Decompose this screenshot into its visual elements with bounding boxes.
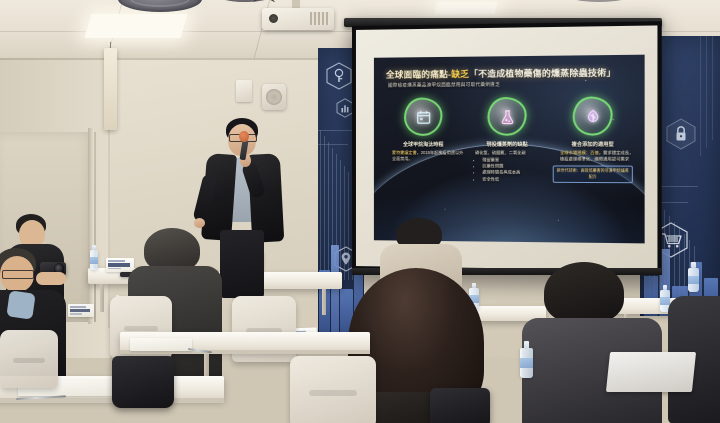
audience-collar [6,290,35,319]
slide-title-key: 缺乏 [451,69,469,79]
slide-bullet: 安全性低 [482,176,549,183]
leaf-icon [573,96,613,135]
bag [430,388,490,423]
alcove-edge [88,128,94,324]
wall-control-box[interactable] [236,80,252,102]
presentation-room-photo: 全球面臨的痛點-缺乏「不造成植物藥傷的燻蒸除蟲技術」 國際檢疫燻蒸藥品溴甲烷面臨… [0,0,720,423]
audience-glasses [2,270,34,279]
name-card [68,304,94,317]
slide-column: 現役燻蒸劑的缺點 磷化氫、硫醯氟、二氧化碳 殘留藥害 抗藥性問題 處理時間長與成… [465,97,550,183]
slide-title-lead: 全球面臨的痛點- [386,69,451,80]
water-bottle [688,268,699,292]
wall-speaker [262,84,286,110]
slide-column-highlight: 蒙特婁議定書 [392,150,417,155]
key-hexagon-icon [326,62,352,90]
laptop[interactable] [606,352,696,392]
slide-column-heading: 全球甲烷淘汰時程 [403,141,443,148]
slide-column: 複合添加的適用型 全球市場規模：百億，需求穩定成長，檢疫處理標準化、國際通用認可… [550,96,637,183]
table-leg [100,284,104,312]
presenter-hand-left [194,218,205,228]
slide-title-rest: 「不造成植物藥傷的燻蒸除蟲技術」 [469,67,616,79]
slide-column-body: 蒙特婁議定書，2015年起檢疫用途以外全面禁用。 [382,150,465,162]
slide-subtitle: 國際檢疫燻蒸藥品溴甲烷面臨禁用與可取代藥劑匱乏 [388,82,500,89]
calendar-icon [404,97,442,135]
projector-vent [310,12,330,25]
slide-column-heading: 複合添加的適用型 [572,141,614,148]
presentation-slide: 全球面臨的痛點-缺乏「不造成植物藥傷的燻蒸除蟲技術」 國際檢疫燻蒸藥品溴甲烷面臨… [374,55,645,244]
slide-column-body: 磷化氫、硫醯氟、二氧化碳 殘留藥害 抗藥性問題 處理時間長與成本高 安全性低 [465,150,550,183]
slide-columns: 全球甲烷淘汰時程 蒙特婁議定書，2015年起檢疫用途以外全面禁用。 [382,96,636,183]
ceiling-light-panel [435,2,498,14]
slide-title: 全球面臨的痛點-缺乏「不造成植物藥傷的燻蒸除蟲技術」 [386,66,636,81]
water-bottle [520,348,533,378]
table-leg [322,289,326,315]
slide-column-text: 磷化氫、硫醯氟、二氧化碳 [475,150,526,155]
slide-column-bullets: 殘留藥害 抗藥性問題 處理時間長與成本高 安全性低 [475,157,549,182]
paper-handout [130,338,192,351]
lock-hexagon-icon [666,118,696,150]
chair[interactable] [0,330,58,388]
name-card [106,258,134,272]
slide-column-heading: 現役燻蒸劑的缺點 [486,141,527,148]
microphone-head [239,131,249,142]
hanging-light-fixture [104,48,117,130]
water-bottle [90,250,98,270]
flask-icon [487,97,526,136]
slide-column-highlight: 全球市場規模：百億 [560,150,599,155]
slide-column: 全球甲烷淘汰時程 蒙特婁議定書，2015年起檢疫用途以外全面禁用。 [382,97,465,182]
presenter-trousers [220,230,264,298]
audience-hair [544,262,624,324]
ceiling-light-panel [85,14,188,38]
bag [112,356,174,408]
chair[interactable] [290,356,376,423]
audience-arm [36,272,66,285]
projector-lens [269,14,278,23]
slide-callout-note: 新世代技術：高效低藥害的非溴甲烷燻蒸配方 [552,166,633,184]
slide-column-body: 全球市場規模：百億，需求穩定成長，檢疫處理標準化、國際通用認可需求 [550,150,637,163]
